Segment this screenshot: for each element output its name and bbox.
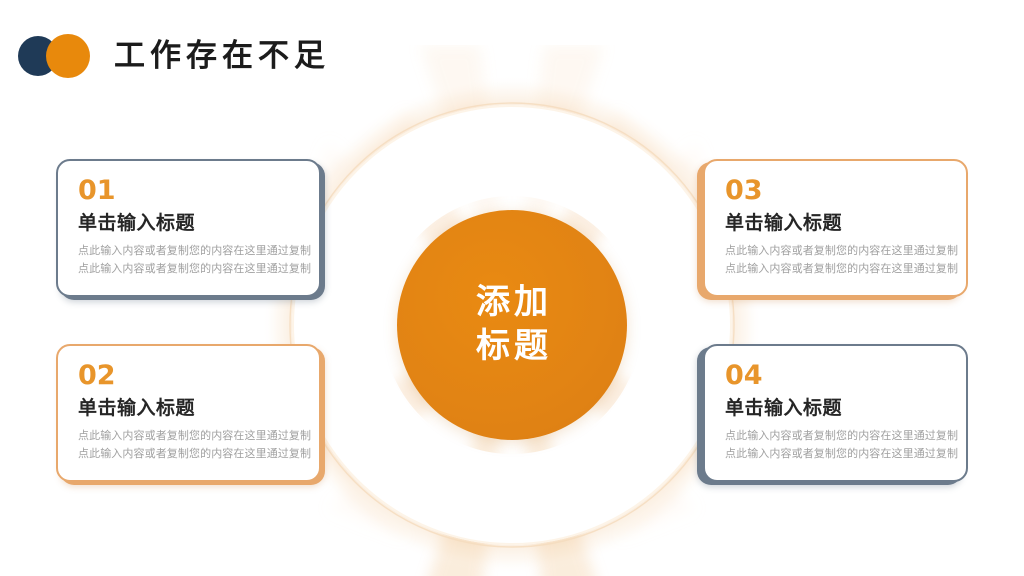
card-04-number: 04 [725,362,952,389]
info-card-02[interactable]: 02 单击输入标题 点此输入内容或者复制您的内容在这里通过复制 点此输入内容或者… [56,344,321,482]
card-04-heading: 单击输入标题 [725,398,952,420]
card-01-heading: 单击输入标题 [78,213,305,235]
orange-dot-icon [46,34,90,78]
card-03-body-line-1: 点此输入内容或者复制您的内容在这里通过复制 [725,242,952,260]
slide-canvas: 添加 标题 工作存在不足 01 单击输入标题 点此输入内容或者复制您的内容在这里… [0,0,1024,576]
info-card-03[interactable]: 03 单击输入标题 点此输入内容或者复制您的内容在这里通过复制 点此输入内容或者… [703,159,968,297]
card-03-number: 03 [725,177,952,204]
card-02-body-line-1: 点此输入内容或者复制您的内容在这里通过复制 [78,427,305,445]
card-03-body-line-2: 点此输入内容或者复制您的内容在这里通过复制 [725,260,952,278]
card-02-number: 02 [78,362,305,389]
center-title-line-1: 添加 [472,281,552,325]
title-decoration [18,32,104,80]
card-02-heading: 单击输入标题 [78,398,305,420]
card-04-body-line-2: 点此输入内容或者复制您的内容在这里通过复制 [725,445,952,463]
info-card-01[interactable]: 01 单击输入标题 点此输入内容或者复制您的内容在这里通过复制 点此输入内容或者… [56,159,321,297]
card-01-body-line-2: 点此输入内容或者复制您的内容在这里通过复制 [78,260,305,278]
center-title-disc[interactable]: 添加 标题 [397,210,627,440]
card-04-body-line-1: 点此输入内容或者复制您的内容在这里通过复制 [725,427,952,445]
card-03-heading: 单击输入标题 [725,213,952,235]
center-title-line-2: 标题 [472,325,552,369]
card-02-body-line-2: 点此输入内容或者复制您的内容在这里通过复制 [78,445,305,463]
info-card-04[interactable]: 04 单击输入标题 点此输入内容或者复制您的内容在这里通过复制 点此输入内容或者… [703,344,968,482]
card-01-number: 01 [78,177,305,204]
page-title: 工作存在不足 [114,41,330,72]
card-01-body-line-1: 点此输入内容或者复制您的内容在这里通过复制 [78,242,305,260]
slide-title-block: 工作存在不足 [18,26,330,86]
